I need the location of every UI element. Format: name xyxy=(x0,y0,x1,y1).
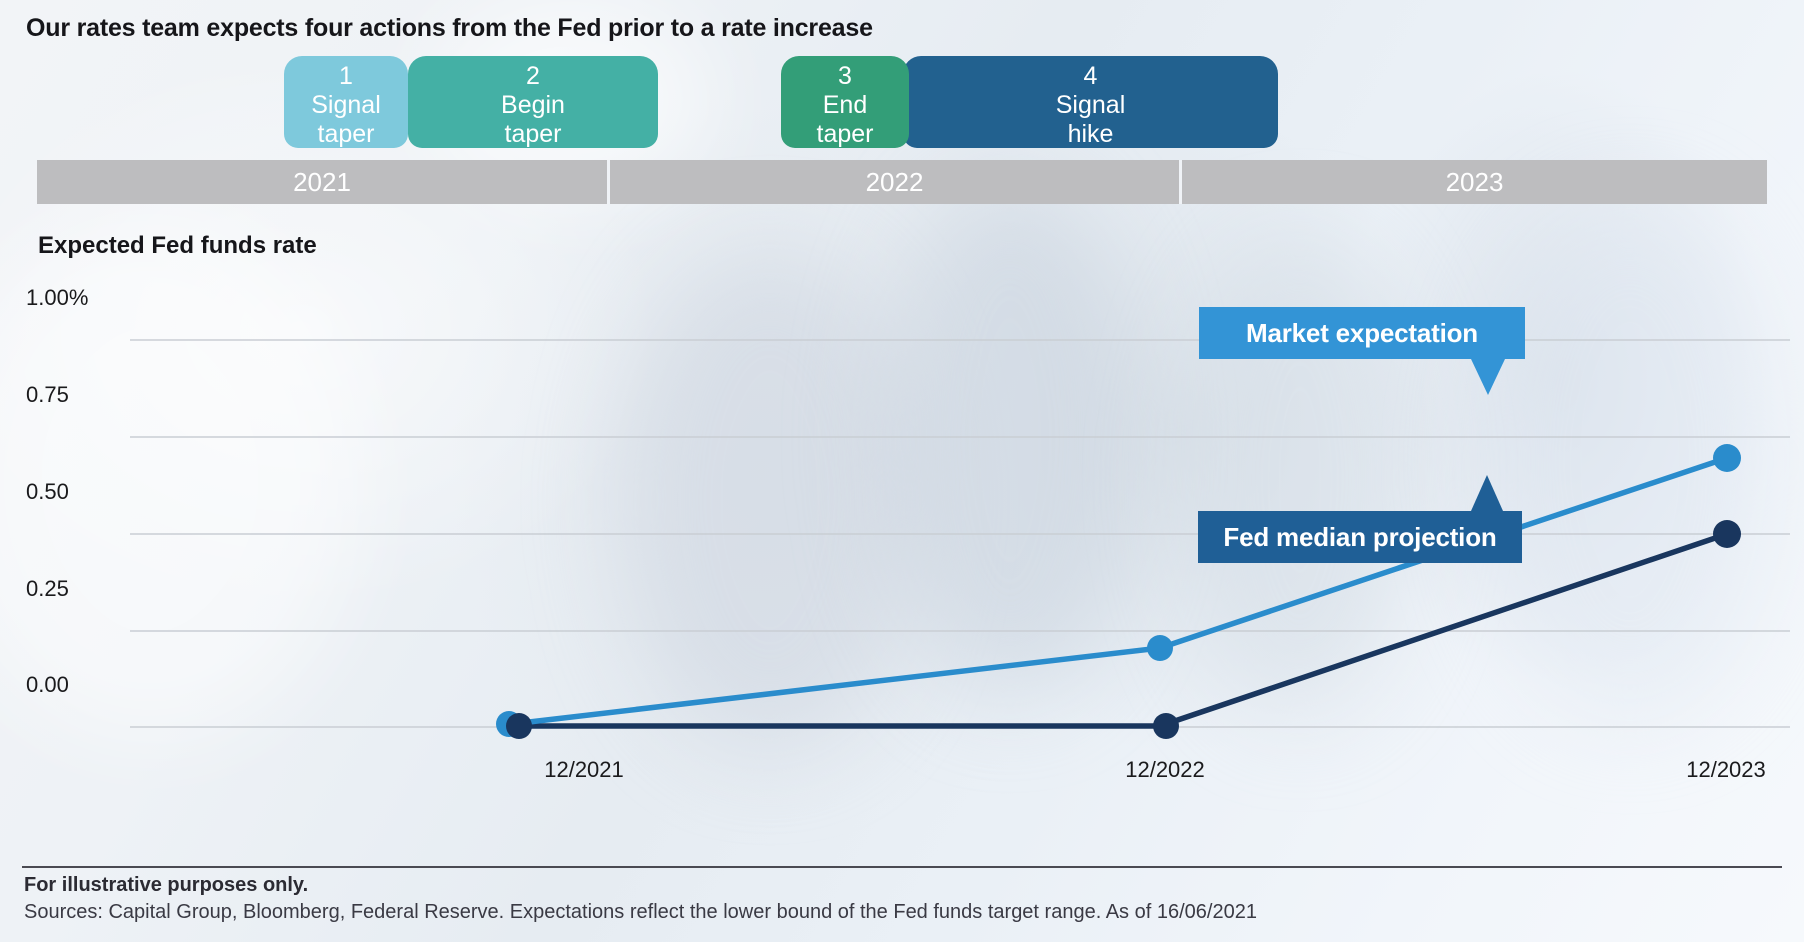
ytick-label-1.00: 1.00% xyxy=(26,285,88,311)
ytick-label-0.00: 0.00 xyxy=(26,672,69,698)
callout-tail-down xyxy=(1471,359,1505,395)
step-box-1: 1 Signal taper xyxy=(284,56,408,148)
step-number: 3 xyxy=(781,62,909,91)
data-point-fed-12-2022 xyxy=(1153,713,1179,739)
step-label-line1: End xyxy=(781,91,909,120)
step-number: 1 xyxy=(284,62,408,91)
step-label-line1: Signal xyxy=(903,91,1278,120)
annotation-fed-median-projection: Fed median projection xyxy=(1198,511,1522,563)
annotation-fed-median-projection-label: Fed median projection xyxy=(1223,522,1496,553)
xtick-label-12-2022: 12/2022 xyxy=(1125,757,1205,783)
footer-divider xyxy=(22,866,1782,868)
step-label-line2: taper xyxy=(781,120,909,149)
ytick-label-0.50: 0.50 xyxy=(26,479,69,505)
annotation-market-expectation-label: Market expectation xyxy=(1246,318,1478,349)
step-box-3: 3 End taper xyxy=(781,56,909,148)
xtick-label-12-2023: 12/2023 xyxy=(1686,757,1766,783)
series-line-fed-median-projection xyxy=(512,534,1727,726)
step-label-line1: Begin xyxy=(408,91,658,120)
step-box-4: 4 Signal hike xyxy=(903,56,1278,148)
ytick-label-0.75: 0.75 xyxy=(26,382,69,408)
data-point-market-12-2022 xyxy=(1147,635,1173,661)
step-label-line2: taper xyxy=(408,120,658,149)
callout-tail-up xyxy=(1471,475,1503,511)
data-point-fed-12-2021 xyxy=(506,713,532,739)
step-number: 4 xyxy=(903,62,1278,91)
xtick-label-12-2021: 12/2021 xyxy=(544,757,624,783)
annotation-market-expectation: Market expectation xyxy=(1199,307,1525,359)
ytick-label-0.25: 0.25 xyxy=(26,576,69,602)
series-line-market-expectation xyxy=(512,458,1727,724)
slide-canvas: Our rates team expects four actions from… xyxy=(0,0,1804,942)
footer-disclaimer: For illustrative purposes only. xyxy=(24,874,308,897)
step-label-line2: taper xyxy=(284,120,408,149)
step-number: 2 xyxy=(408,62,658,91)
step-label-line2: hike xyxy=(903,120,1278,149)
step-label-line1: Signal xyxy=(284,91,408,120)
data-point-market-12-2023 xyxy=(1713,444,1741,472)
footer-sources: Sources: Capital Group, Bloomberg, Feder… xyxy=(24,901,1257,924)
step-box-2: 2 Begin taper xyxy=(408,56,658,148)
data-point-fed-12-2023 xyxy=(1713,520,1741,548)
